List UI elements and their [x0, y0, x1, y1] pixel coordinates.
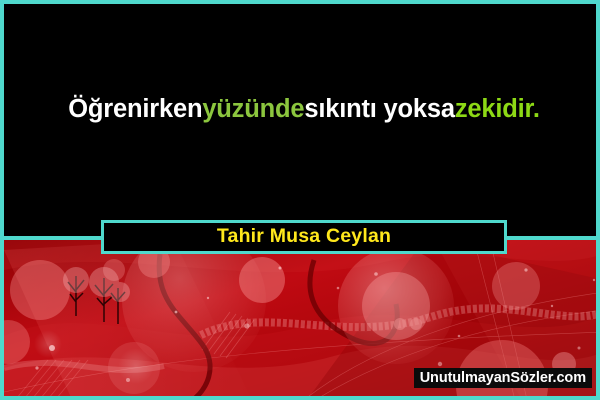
author-name: Tahir Musa Ceylan [217, 227, 391, 247]
author-plate: Tahir Musa Ceylan [101, 220, 507, 254]
quote-panel: Öğrenirken yüzünde sıkıntı yoksa zekidir… [4, 4, 600, 240]
quote-highlight-2: zekidir. [455, 94, 540, 126]
watermark[interactable]: UnutulmayanSözler.com [414, 368, 592, 388]
quote-segment-2: sıkıntı yoksa [304, 94, 454, 126]
quote-card: Öğrenirken yüzünde sıkıntı yoksa zekidir… [0, 0, 600, 400]
quote-text: Öğrenirken yüzünde sıkıntı yoksa zekidir… [4, 4, 600, 216]
quote-segment-1: Öğrenirken [68, 94, 202, 126]
quote-highlight-1: yüzünde [202, 94, 304, 126]
watermark-label: UnutulmayanSözler.com [420, 371, 586, 386]
